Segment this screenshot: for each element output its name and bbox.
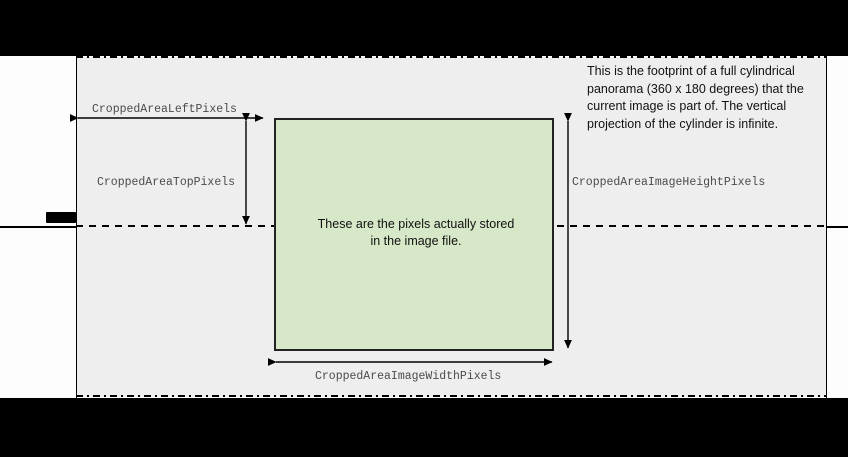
horizon-marker-nub <box>46 212 76 223</box>
footprint-note-text: This is the footprint of a full cylindri… <box>587 63 832 133</box>
equator-line-solid-right <box>826 226 848 228</box>
label-cropped-area-left-pixels: CroppedAreaLeftPixels <box>92 103 237 116</box>
stored-pixels-caption: These are the pixels actually stored in … <box>276 216 556 250</box>
equator-line-solid-left <box>0 226 77 228</box>
label-cropped-area-top-pixels: CroppedAreaTopPixels <box>97 176 235 189</box>
letterbox-band-top <box>0 0 848 56</box>
stored-pixels-rectangle: These are the pixels actually stored in … <box>274 118 554 351</box>
letterbox-band-bottom <box>0 398 848 457</box>
label-cropped-area-image-height-pixels: CroppedAreaImageHeightPixels <box>572 176 765 189</box>
footprint-edge-top <box>76 56 826 58</box>
diagram-canvas: These are the pixels actually stored in … <box>0 0 848 457</box>
label-cropped-area-image-width-pixels: CroppedAreaImageWidthPixels <box>315 370 501 383</box>
footprint-edge-bottom <box>76 395 826 397</box>
